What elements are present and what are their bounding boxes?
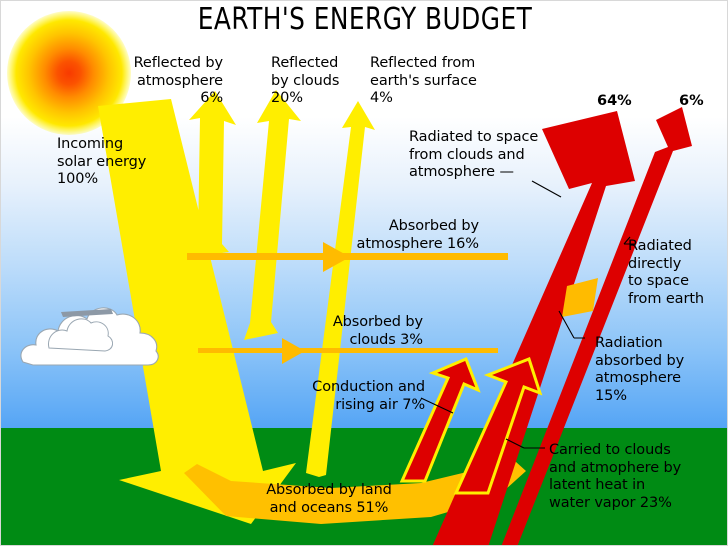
page-title: EARTH'S ENERGY BUDGET xyxy=(30,2,700,37)
label-percent-64: 64% xyxy=(597,93,632,109)
label-incoming-solar-energy: Incoming solar energy 100% xyxy=(57,136,177,189)
label-radiated-to-space-from-clouds: Radiated to space from clouds and atmosp… xyxy=(409,129,579,182)
label-reflected-by-atmosphere: Reflected by atmosphere 6% xyxy=(119,55,223,108)
label-radiated-directly-to-space: Radiated directly to space from earth xyxy=(628,238,728,308)
label-latent-heat-water-vapor: Carried to clouds and atmophere by laten… xyxy=(549,442,728,512)
label-reflected-from-surface: Reflected from earth's surface 4% xyxy=(370,55,500,108)
label-absorbed-by-atmosphere: Absorbed by atmosphere 16% xyxy=(331,218,479,253)
label-conduction-rising-air: Conduction and rising air 7% xyxy=(289,379,425,414)
label-radiation-absorbed-by-atmosphere: Radiation absorbed by atmosphere 15% xyxy=(595,335,728,405)
label-absorbed-by-land-oceans: Absorbed by land and oceans 51% xyxy=(234,482,424,517)
label-absorbed-by-clouds: Absorbed by clouds 3% xyxy=(301,314,423,349)
label-reflected-by-clouds: Reflected by clouds 20% xyxy=(271,55,363,108)
label-percent-6: 6% xyxy=(679,93,704,109)
energy-budget-diagram: EARTH'S ENERGY BUDGET Reflected by atmos… xyxy=(0,0,728,546)
